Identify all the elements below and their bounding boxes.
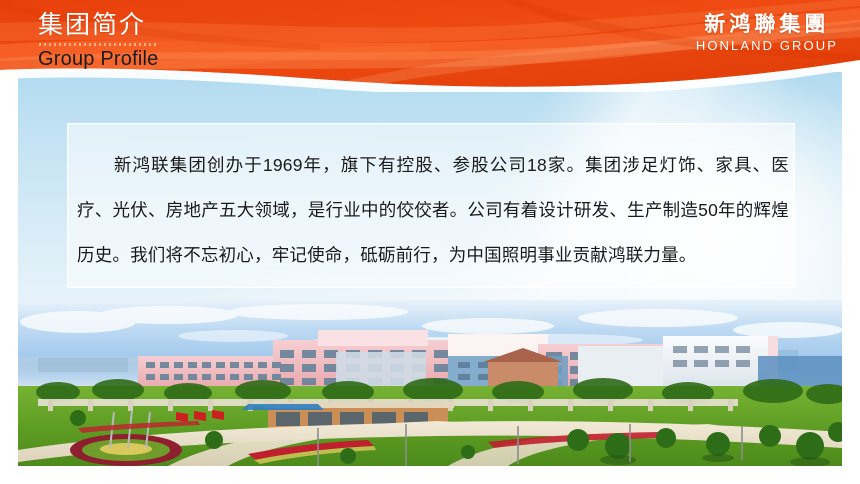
header-title-group: 集团简介 Group Profile <box>38 10 158 71</box>
company-logo[interactable]: 新鸿聯集團 HONLAND GROUP <box>696 12 838 54</box>
paragraph-text: 新鸿联集团创办于1969年，旗下有控股、参股公司18家。集团涉足灯饰、家具、医疗… <box>77 155 789 265</box>
page-title-cn: 集团简介 <box>38 10 158 40</box>
profile-paragraph: 新鸿联集团创办于1969年，旗下有控股、参股公司18家。集团涉足灯饰、家具、医疗… <box>77 143 789 278</box>
header-band: 集团简介 Group Profile 新鸿聯集團 HONLAND GROUP <box>0 0 860 92</box>
page-title-en: Group Profile <box>38 47 158 71</box>
logo-name-en: HONLAND GROUP <box>696 38 838 54</box>
campus-photo-graphic <box>18 300 842 466</box>
slide: 集团简介 Group Profile 新鸿聯集團 HONLAND GROUP 新… <box>0 0 860 484</box>
logo-name-cn: 新鸿聯集團 <box>696 12 838 37</box>
campus-photo <box>18 300 842 466</box>
title-separator <box>39 43 157 46</box>
